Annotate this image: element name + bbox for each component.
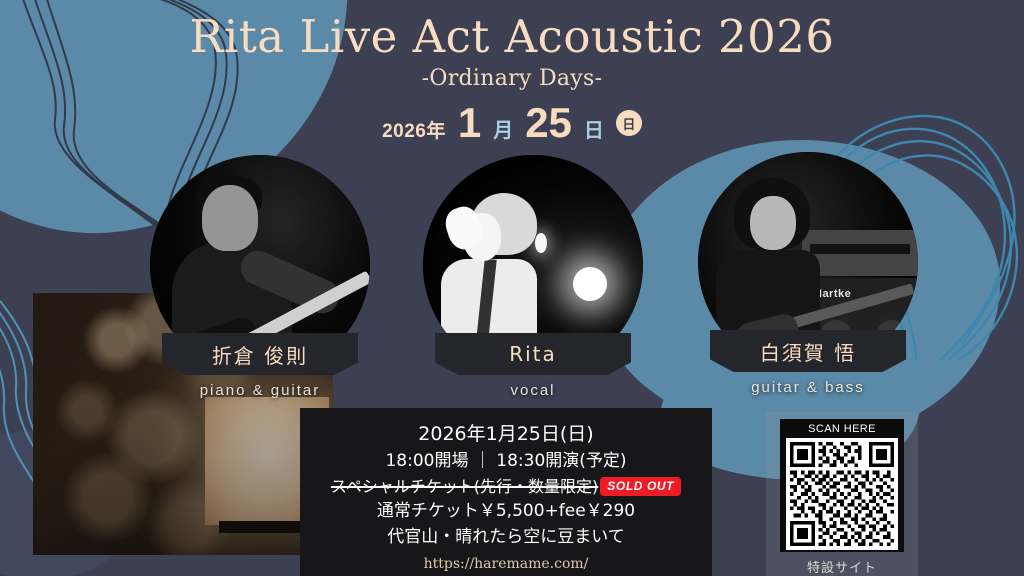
date-month-unit: 月 xyxy=(493,114,513,143)
date-day-number: 25 xyxy=(525,102,572,144)
info-date: 2026年1月25日(日) xyxy=(300,420,712,449)
info-time: 18:00開場 ｜ 18:30開演(予定) xyxy=(300,449,712,475)
member-name-2: Rita xyxy=(509,342,557,366)
member-name-bar-3: 白須賀 悟 xyxy=(710,330,906,372)
member-role-1: piano & guitar xyxy=(150,382,370,399)
member-card-1: 折倉 俊則 piano & guitar xyxy=(150,155,370,399)
concert-flyer: Rita Live Act Acoustic 2026 -Ordinary Da… xyxy=(0,0,1024,576)
date-day-unit: 日 xyxy=(584,114,604,143)
member-card-2: Rita vocal xyxy=(423,155,643,399)
page-subtitle: -Ordinary Days- xyxy=(0,66,1024,91)
qr-scan-label: SCAN HERE xyxy=(808,423,876,435)
date-year: 2026年 xyxy=(382,116,446,143)
qr-card[interactable]: SCAN HERE xyxy=(780,419,904,552)
info-url-link[interactable]: https://haremame.com/ xyxy=(300,556,712,572)
qr-caption: 特設サイト xyxy=(807,557,877,576)
info-venue: 代官山・晴れたら空に豆まいて xyxy=(300,525,712,551)
weekday-badge-icon: 日 xyxy=(616,110,642,136)
member-card-3: Hartke 白須賀 悟 guitar & bass xyxy=(698,152,918,396)
member-name-1: 折倉 俊則 xyxy=(212,340,308,369)
page-title: Rita Live Act Acoustic 2026 xyxy=(0,12,1024,62)
title-block: Rita Live Act Acoustic 2026 -Ordinary Da… xyxy=(0,12,1024,91)
member-name-bar-2: Rita xyxy=(435,333,631,375)
member-name-3: 白須賀 悟 xyxy=(760,337,856,366)
qr-code-icon xyxy=(790,442,894,546)
member-name-bar-1: 折倉 俊則 xyxy=(162,333,358,375)
event-info-panel: 2026年1月25日(日) 18:00開場 ｜ 18:30開演(予定) スペシャ… xyxy=(300,408,712,576)
status-badge-sold-out: SOLD OUT xyxy=(600,477,681,496)
info-special-ticket: スペシャルチケット(先行・数量限定) xyxy=(331,475,598,499)
qr-panel: SCAN HERE xyxy=(766,412,918,576)
info-normal-ticket: 通常チケット￥5,500+fee￥290 xyxy=(300,499,712,525)
member-role-2: vocal xyxy=(423,382,643,399)
info-special-ticket-row: スペシャルチケット(先行・数量限定) SOLD OUT xyxy=(300,475,712,499)
date-headline: 2026年 1 月 25 日 日 xyxy=(0,102,1024,144)
member-role-3: guitar & bass xyxy=(698,379,918,396)
date-month-number: 1 xyxy=(458,102,481,144)
qr-code-image[interactable] xyxy=(786,438,898,550)
